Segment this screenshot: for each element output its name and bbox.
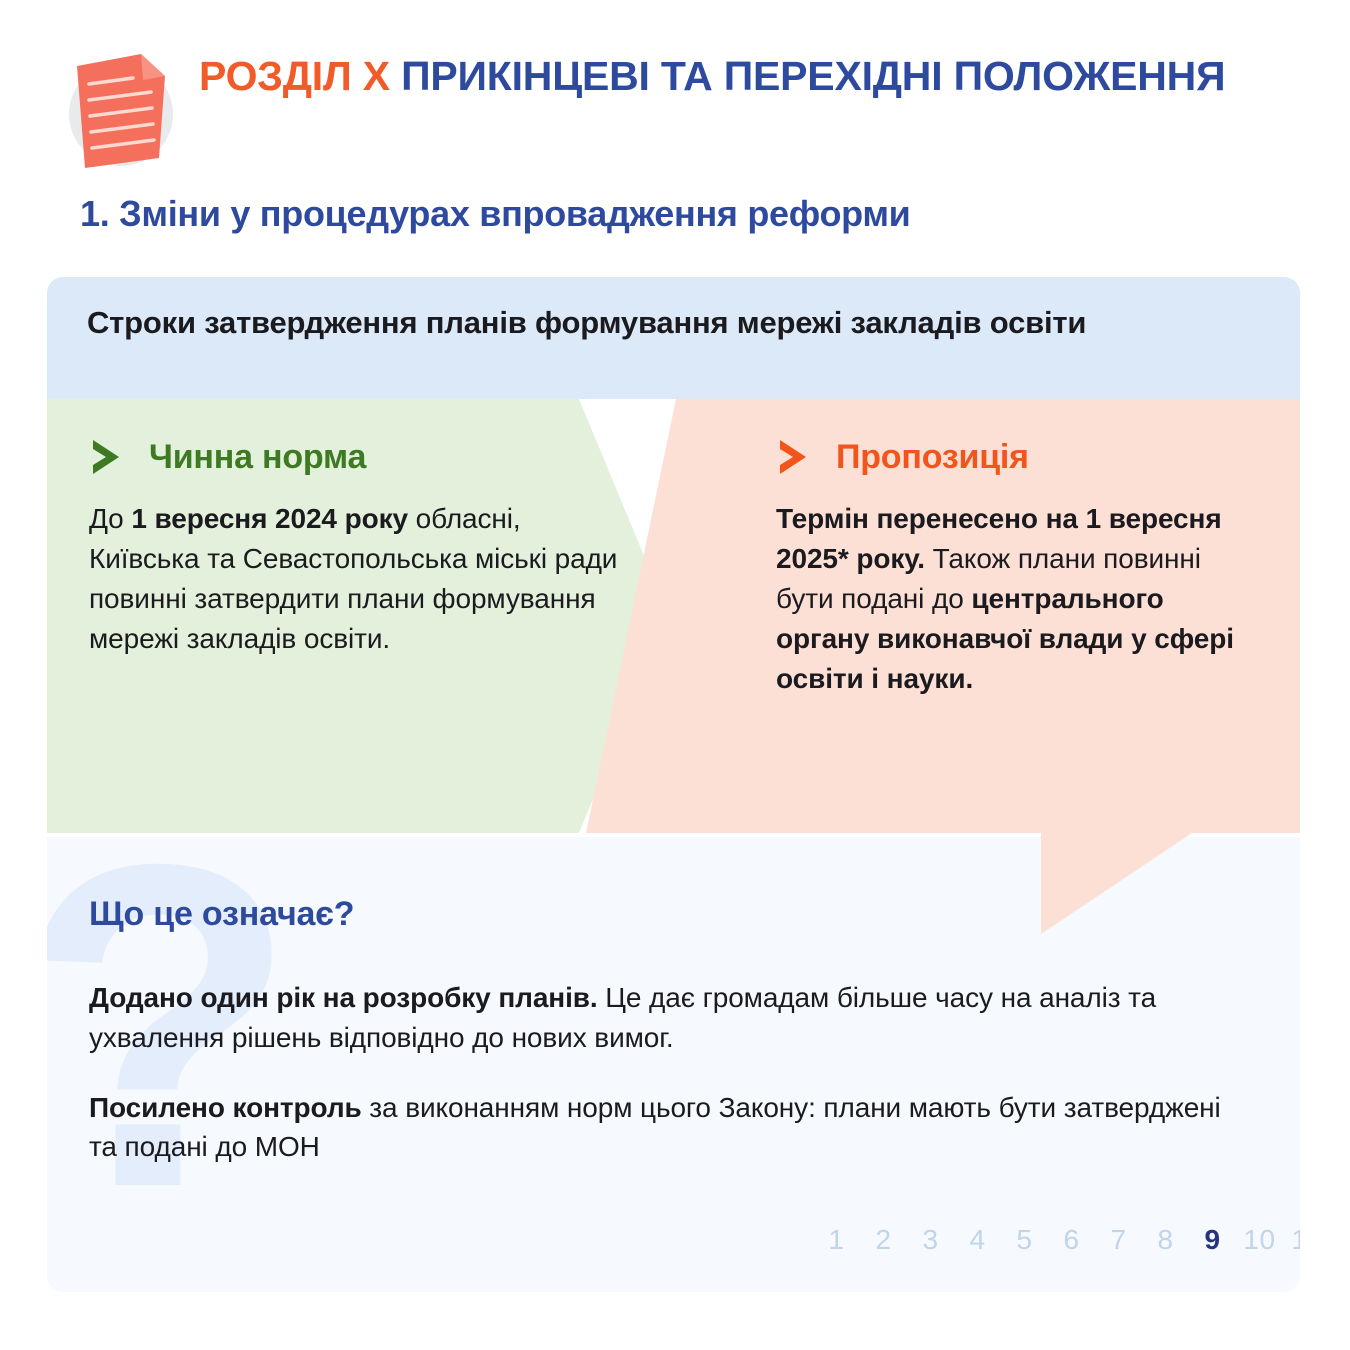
document-icon [55,40,177,175]
current-norm-text-bold: 1 вересня 2024 року [131,503,408,534]
page-title-rest: ПРИКІНЦЕВІ ТА ПЕРЕХІДНІ ПОЛОЖЕННЯ [390,53,1225,99]
page-title-accent: РОЗДІЛ X [199,53,390,99]
pagination-page[interactable]: 4 [954,1224,1001,1256]
section-subtitle: 1. Зміни у процедурах впровадження рефор… [80,193,911,235]
pagination-page[interactable]: 10 [1236,1224,1283,1256]
comparison-row: Чинна норма До 1 вересня 2024 року облас… [47,399,1300,934]
meaning-paragraph: Додано один рік на розробку планів. Це д… [89,978,1229,1058]
pagination-page[interactable]: 7 [1095,1224,1142,1256]
pagination-page[interactable]: 2 [860,1224,907,1256]
pagination-page[interactable]: 11 [1283,1224,1300,1256]
proposal-header: Пропозиція [776,437,1250,477]
card-title-text: Строки затвердження планів формування ме… [87,303,1260,343]
current-norm-text-lead: До [89,503,131,534]
current-norm-label: Чинна норма [149,438,366,477]
proposal-panel: Пропозиція Термін перенесено на 1 вересн… [586,399,1300,934]
page-header: РОЗДІЛ X ПРИКІНЦЕВІ ТА ПЕРЕХІДНІ ПОЛОЖЕН… [55,40,1295,175]
chevron-right-icon [776,437,818,477]
chevron-right-icon [89,437,131,477]
card-title-band: Строки затвердження планів формування ме… [47,277,1300,399]
document-icon-glyph [55,40,177,175]
current-norm-text: До 1 вересня 2024 року обласні, Київська… [89,499,623,659]
pagination-page[interactable]: 1 [813,1224,860,1256]
comparison-card: Строки затвердження планів формування ме… [47,277,1300,1292]
meaning-paragraph: Посилено контроль за виконанням норм цьо… [89,1088,1229,1168]
proposal-text: Термін перенесено на 1 вересня 2025* рок… [776,499,1250,699]
pagination-page[interactable]: 6 [1048,1224,1095,1256]
page-title: РОЗДІЛ X ПРИКІНЦЕВІ ТА ПЕРЕХІДНІ ПОЛОЖЕН… [199,40,1225,100]
pagination-page[interactable]: 3 [907,1224,954,1256]
pagination-page[interactable]: 8 [1142,1224,1189,1256]
pagination-page-active[interactable]: 9 [1189,1224,1236,1256]
meaning-paragraph-bold: Посилено контроль [89,1092,362,1123]
current-norm-header: Чинна норма [89,437,623,477]
proposal-label: Пропозиція [836,438,1029,477]
meaning-paragraph-bold: Додано один рік на розробку планів. [89,982,598,1013]
pagination-page[interactable]: 5 [1001,1224,1048,1256]
pagination[interactable]: 1 2 3 4 5 6 7 8 9 10 11 [813,1224,1300,1256]
current-norm-panel: Чинна норма До 1 вересня 2024 року облас… [47,399,669,833]
